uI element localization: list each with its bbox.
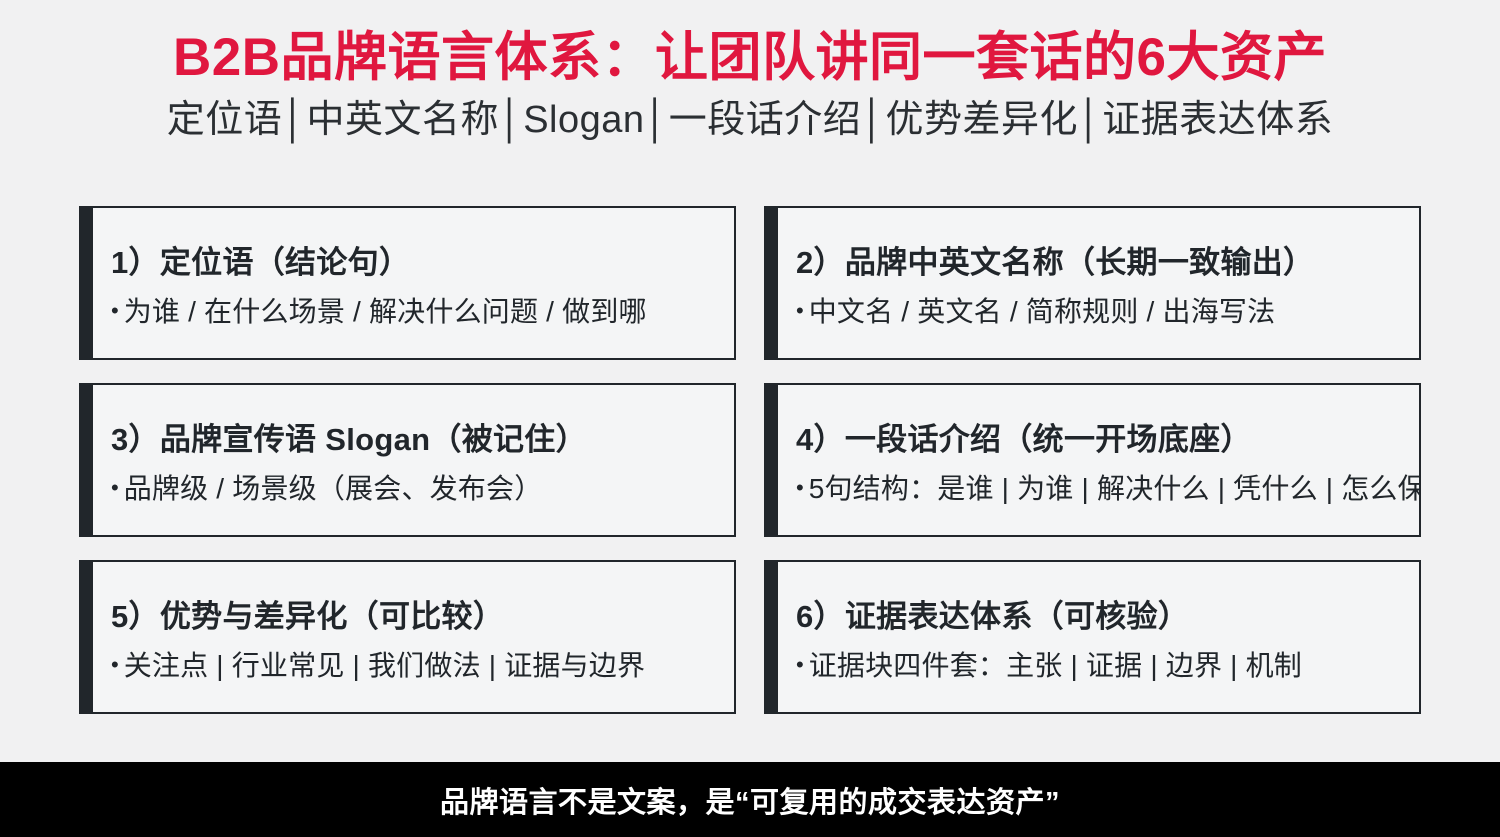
asset-card-1-title: 1）定位语（结论句） xyxy=(111,244,720,281)
asset-card-2-bullet: • 中文名 / 英文名 / 简称规则 / 出海写法 xyxy=(796,295,1405,329)
asset-card-4-title: 4）一段话介绍（统一开场底座） xyxy=(796,421,1405,458)
asset-card-3-bullet-text: 品牌级 / 场景级（展会、发布会） xyxy=(124,472,543,506)
asset-card-3-bullet: • 品牌级 / 场景级（展会、发布会） xyxy=(111,472,720,506)
asset-card-2-title: 2）品牌中英文名称（长期一致输出） xyxy=(796,244,1405,281)
asset-card-4: 4）一段话介绍（统一开场底座） • 5句结构：是谁 | 为谁 | 解决什么 | … xyxy=(764,383,1421,537)
page-title: B2B品牌语言体系：让团队讲同一套话的6大资产 xyxy=(0,28,1500,87)
bullet-dot-icon: • xyxy=(111,300,119,322)
asset-card-5: 5）优势与差异化（可比较） • 关注点 | 行业常见 | 我们做法 | 证据与边… xyxy=(79,560,736,714)
asset-card-1-bullet-text: 为谁 / 在什么场景 / 解决什么问题 / 做到哪 xyxy=(124,295,647,329)
asset-card-4-bullet: • 5句结构：是谁 | 为谁 | 解决什么 | 凭什么 | 怎么保障 xyxy=(796,472,1405,506)
asset-card-4-bullet-text: 5句结构：是谁 | 为谁 | 解决什么 | 凭什么 | 怎么保障 xyxy=(809,472,1421,506)
bullet-dot-icon: • xyxy=(111,477,119,499)
asset-card-3-title: 3）品牌宣传语 Slogan（被记住） xyxy=(111,421,720,458)
asset-card-1: 1）定位语（结论句） • 为谁 / 在什么场景 / 解决什么问题 / 做到哪 xyxy=(79,206,736,360)
asset-card-6-bullet: • 证据块四件套：主张 | 证据 | 边界 | 机制 xyxy=(796,649,1405,683)
asset-card-5-title: 5）优势与差异化（可比较） xyxy=(111,598,720,635)
footer-tagline: 品牌语言不是文案，是“可复用的成交表达资产” xyxy=(440,779,1060,821)
bullet-dot-icon: • xyxy=(111,654,119,676)
asset-card-2-bullet-text: 中文名 / 英文名 / 简称规则 / 出海写法 xyxy=(809,295,1276,329)
asset-card-3: 3）品牌宣传语 Slogan（被记住） • 品牌级 / 场景级（展会、发布会） xyxy=(79,383,736,537)
page-subtitle: 定位语│中英文名称│Slogan│一段话介绍│优势差异化│证据表达体系 xyxy=(0,99,1500,143)
slide-header: B2B品牌语言体系：让团队讲同一套话的6大资产 定位语│中英文名称│Slogan… xyxy=(0,0,1500,143)
asset-card-1-bullet: • 为谁 / 在什么场景 / 解决什么问题 / 做到哪 xyxy=(111,295,720,329)
bullet-dot-icon: • xyxy=(796,477,804,499)
asset-card-6: 6）证据表达体系（可核验） • 证据块四件套：主张 | 证据 | 边界 | 机制 xyxy=(764,560,1421,714)
bullet-dot-icon: • xyxy=(796,300,804,322)
asset-card-6-title: 6）证据表达体系（可核验） xyxy=(796,598,1405,635)
asset-card-5-bullet-text: 关注点 | 行业常见 | 我们做法 | 证据与边界 xyxy=(124,649,646,683)
asset-card-2: 2）品牌中英文名称（长期一致输出） • 中文名 / 英文名 / 简称规则 / 出… xyxy=(764,206,1421,360)
asset-card-6-bullet-text: 证据块四件套：主张 | 证据 | 边界 | 机制 xyxy=(809,649,1302,683)
asset-card-5-bullet: • 关注点 | 行业常见 | 我们做法 | 证据与边界 xyxy=(111,649,720,683)
footer-banner: 品牌语言不是文案，是“可复用的成交表达资产” xyxy=(0,762,1500,837)
asset-card-grid: 1）定位语（结论句） • 为谁 / 在什么场景 / 解决什么问题 / 做到哪 2… xyxy=(79,206,1421,714)
bullet-dot-icon: • xyxy=(796,654,804,676)
slide-root: B2B品牌语言体系：让团队讲同一套话的6大资产 定位语│中英文名称│Slogan… xyxy=(0,0,1500,837)
